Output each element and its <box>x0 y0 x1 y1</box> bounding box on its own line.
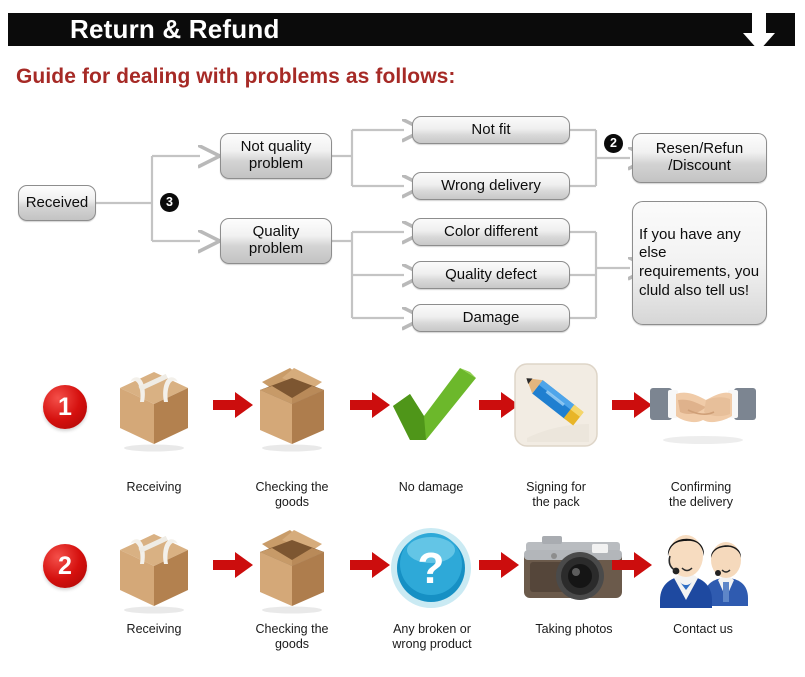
open-box-icon <box>246 522 338 614</box>
node-damage[interactable]: Damage <box>412 304 570 332</box>
camera-icon <box>520 532 626 604</box>
step-row-2-label-4: Contact us <box>648 622 758 637</box>
node-wrong-delivery[interactable]: Wrong delivery <box>412 172 570 200</box>
node-color-different-label: Color different <box>444 224 538 241</box>
badge-3-label: 3 <box>166 196 173 209</box>
step-row-2-label-0: Receiving <box>104 622 204 637</box>
badge-2: 2 <box>604 134 623 153</box>
red-arrow-icon <box>479 550 519 580</box>
svg-text:?: ? <box>418 544 445 593</box>
node-resend-refund-discount[interactable]: Resen/Refun /Discount <box>632 133 767 183</box>
step-row-2-number: 2 <box>43 544 87 588</box>
node-not-fit-label: Not fit <box>471 122 510 139</box>
closed-box-icon <box>108 360 200 452</box>
node-quality-defect-label: Quality defect <box>445 267 537 284</box>
node-quality-defect[interactable]: Quality defect <box>412 261 570 289</box>
handshake-icon <box>648 370 758 446</box>
support-agents-icon <box>652 524 756 614</box>
pencil-sign-icon <box>513 362 599 448</box>
step-row-2-label-2: Any broken or wrong product <box>374 622 490 653</box>
node-extra-requirements-note: If you have any else requirements, you c… <box>632 201 767 325</box>
node-damage-label: Damage <box>463 310 520 327</box>
badge-2-label: 2 <box>610 137 617 150</box>
down-arrow-icon <box>737 9 781 53</box>
node-extra-requirements-text: If you have any else requirements, you c… <box>639 226 760 300</box>
step-row-1-label-2: No damage <box>376 480 486 495</box>
red-arrow-icon <box>612 390 652 420</box>
node-received-label: Received <box>26 195 89 212</box>
red-arrow-icon <box>350 390 390 420</box>
node-quality-problem-label: Quality problem <box>249 224 303 258</box>
red-arrow-icon <box>612 550 652 580</box>
step-row-1-label-3: Signing for the pack <box>506 480 606 511</box>
closed-box-icon <box>108 522 200 614</box>
step-row-1: 1 Receiving Checking the goods No damage <box>0 352 805 502</box>
step-row-2-label-3: Taking photos <box>518 622 630 637</box>
step-row-1-label-4: Confirming the delivery <box>642 480 760 511</box>
step-row-2-number-label: 2 <box>58 552 72 581</box>
open-box-icon <box>246 360 338 452</box>
red-arrow-icon <box>350 550 390 580</box>
node-not-quality-problem[interactable]: Not quality problem <box>220 133 332 179</box>
blue-question-icon: ? <box>389 526 473 610</box>
node-received[interactable]: Received <box>18 185 96 221</box>
flowchart: Received Not quality problem Quality pro… <box>0 108 805 346</box>
node-not-fit[interactable]: Not fit <box>412 116 570 144</box>
page-title: Return & Refund <box>70 14 280 46</box>
node-quality-problem[interactable]: Quality problem <box>220 218 332 264</box>
guide-heading: Guide for dealing with problems as follo… <box>16 65 456 89</box>
green-check-icon <box>388 364 480 448</box>
step-row-2: 2 Receiving Checking the goods ? Any bro… <box>0 518 805 668</box>
step-row-1-number: 1 <box>43 385 87 429</box>
step-row-2-label-1: Checking the goods <box>242 622 342 653</box>
badge-3: 3 <box>160 193 179 212</box>
node-not-quality-problem-label: Not quality problem <box>241 139 312 173</box>
node-resend-refund-discount-label: Resen/Refun /Discount <box>656 141 744 175</box>
step-row-1-label-1: Checking the goods <box>242 480 342 511</box>
step-row-1-label-0: Receiving <box>104 480 204 495</box>
step-row-1-number-label: 1 <box>58 393 72 422</box>
node-color-different[interactable]: Color different <box>412 218 570 246</box>
node-wrong-delivery-label: Wrong delivery <box>441 178 541 195</box>
